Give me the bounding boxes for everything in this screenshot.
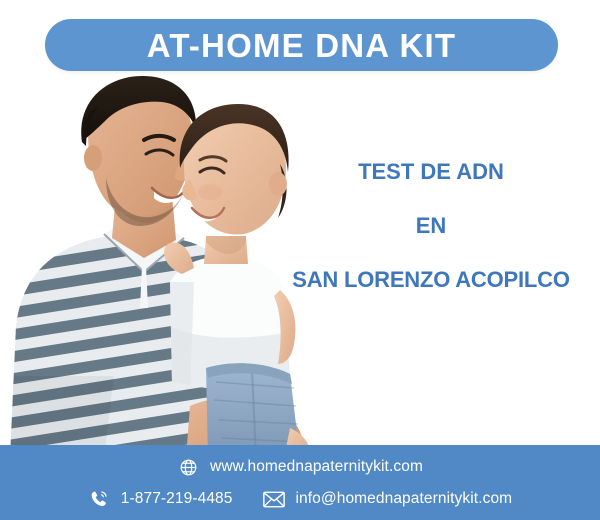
website-label: www.homednapaternitykit.com [210, 458, 423, 476]
headline-line-3: SAN LORENZO ACOPILCO [262, 268, 600, 292]
footer-contact-bar: www.homednapaternitykit.com 1-877-219-44… [0, 445, 600, 520]
headline-line-2: EN [262, 214, 600, 238]
footer-contact-row: 1-877-219-4485 info@homednapaternitykit.… [0, 484, 600, 514]
poster-canvas: AT-HOME DNA KIT [0, 0, 600, 520]
phone-contact-item[interactable]: 1-877-219-4485 [88, 488, 233, 510]
website-contact-item[interactable]: www.homednapaternitykit.com [177, 456, 423, 478]
phone-label: 1-877-219-4485 [121, 490, 233, 508]
email-label: info@homednapaternitykit.com [296, 490, 513, 508]
phone-icon [88, 488, 110, 510]
headline-block: TEST DE ADN EN SAN LORENZO ACOPILCO [262, 160, 600, 293]
globe-icon [177, 456, 199, 478]
page-title: AT-HOME DNA KIT [147, 29, 456, 62]
envelope-icon [263, 488, 285, 510]
footer-website-row: www.homednapaternitykit.com [0, 452, 600, 482]
header-banner: AT-HOME DNA KIT [45, 19, 558, 71]
headline-line-1: TEST DE ADN [262, 160, 600, 184]
email-contact-item[interactable]: info@homednapaternitykit.com [263, 488, 513, 510]
